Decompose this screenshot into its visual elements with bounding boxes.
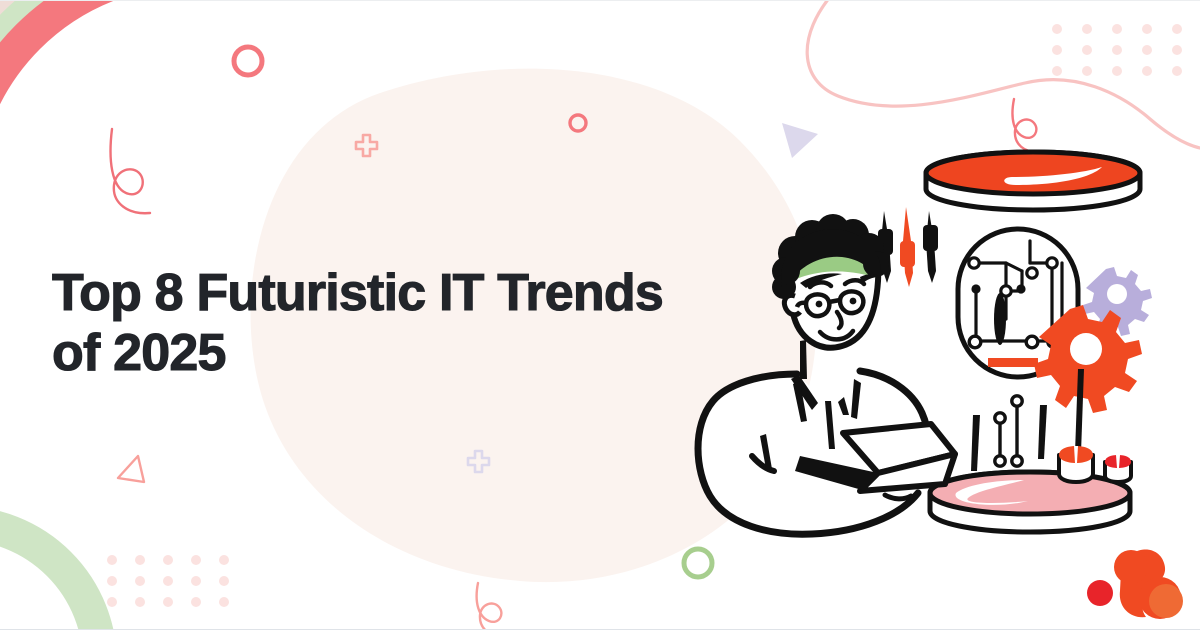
person-collar-notch (838, 397, 849, 415)
circuit-lens-shape (994, 293, 1006, 345)
disc-top-orange (926, 152, 1140, 210)
person-eye-right (850, 298, 857, 305)
headline-line-2: of 2025 (52, 323, 712, 383)
person-neck (800, 340, 807, 379)
antenna-stroke-right (1038, 405, 1047, 459)
component-pin-black-right (923, 211, 938, 283)
person-with-laptop (698, 214, 955, 534)
disc-bottom-pink (930, 472, 1130, 532)
banner-card: Top 8 Futuristic IT Trends of 2025 (0, 0, 1200, 630)
page-title: Top 8 Futuristic IT Trends of 2025 (52, 263, 712, 384)
component-pin-orange-center (900, 207, 915, 287)
capacitor-large-orange (1059, 446, 1093, 482)
capacitor-small-orange (1105, 455, 1131, 482)
connector-dots-group (995, 396, 1022, 466)
headline-line-1: Top 8 Futuristic IT Trends (52, 263, 712, 323)
person-collar-right (851, 379, 861, 419)
antenna-stroke-left (971, 415, 980, 471)
person-eye-left (816, 301, 823, 308)
circuit-bar-orange (988, 358, 1038, 367)
